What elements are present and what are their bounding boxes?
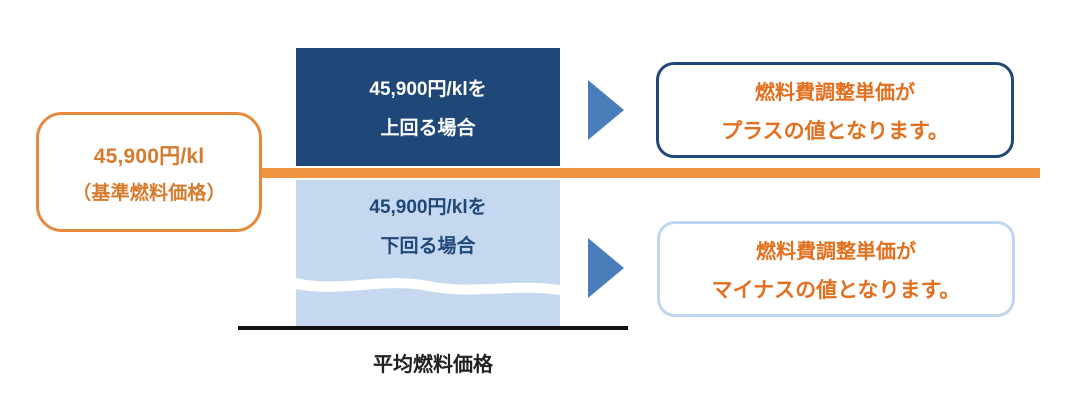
reference-price-value: 45,900円/kl [94, 140, 205, 170]
bar-above-line2: 上回る場合 [380, 113, 475, 140]
reference-price-callout: 45,900円/kl （基準燃料価格） [36, 112, 262, 232]
result-box-plus: 燃料費調整単価が プラスの値となります。 [656, 62, 1014, 158]
result-minus-line1: 燃料費調整単価が [756, 235, 916, 264]
bar-below-threshold-labels: 45,900円/klを 下回る場合 [296, 192, 560, 258]
result-box-minus: 燃料費調整単価が マイナスの値となります。 [657, 221, 1015, 317]
bar-above-line1: 45,900円/klを [369, 74, 486, 101]
result-minus-line2: マイナスの値となります。 [712, 274, 961, 304]
result-plus-line1: 燃料費調整単価が [755, 76, 915, 105]
axis-baseline [238, 326, 628, 330]
triangle-right-icon-top [588, 80, 624, 140]
axis-label: 平均燃料価格 [238, 348, 628, 377]
bar-above-threshold: 45,900円/klを 上回る場合 [296, 48, 560, 166]
bar-below-line2: 下回る場合 [380, 231, 475, 258]
bar-below-line1: 45,900円/klを [369, 192, 486, 219]
triangle-right-icon-bottom [588, 238, 624, 298]
reference-price-caption: （基準燃料価格） [72, 178, 226, 205]
fuel-cost-adjustment-diagram: 45,900円/kl （基準燃料価格） 45,900円/klを 上回る場合 45… [0, 0, 1066, 400]
result-plus-line2: プラスの値となります。 [721, 115, 949, 145]
